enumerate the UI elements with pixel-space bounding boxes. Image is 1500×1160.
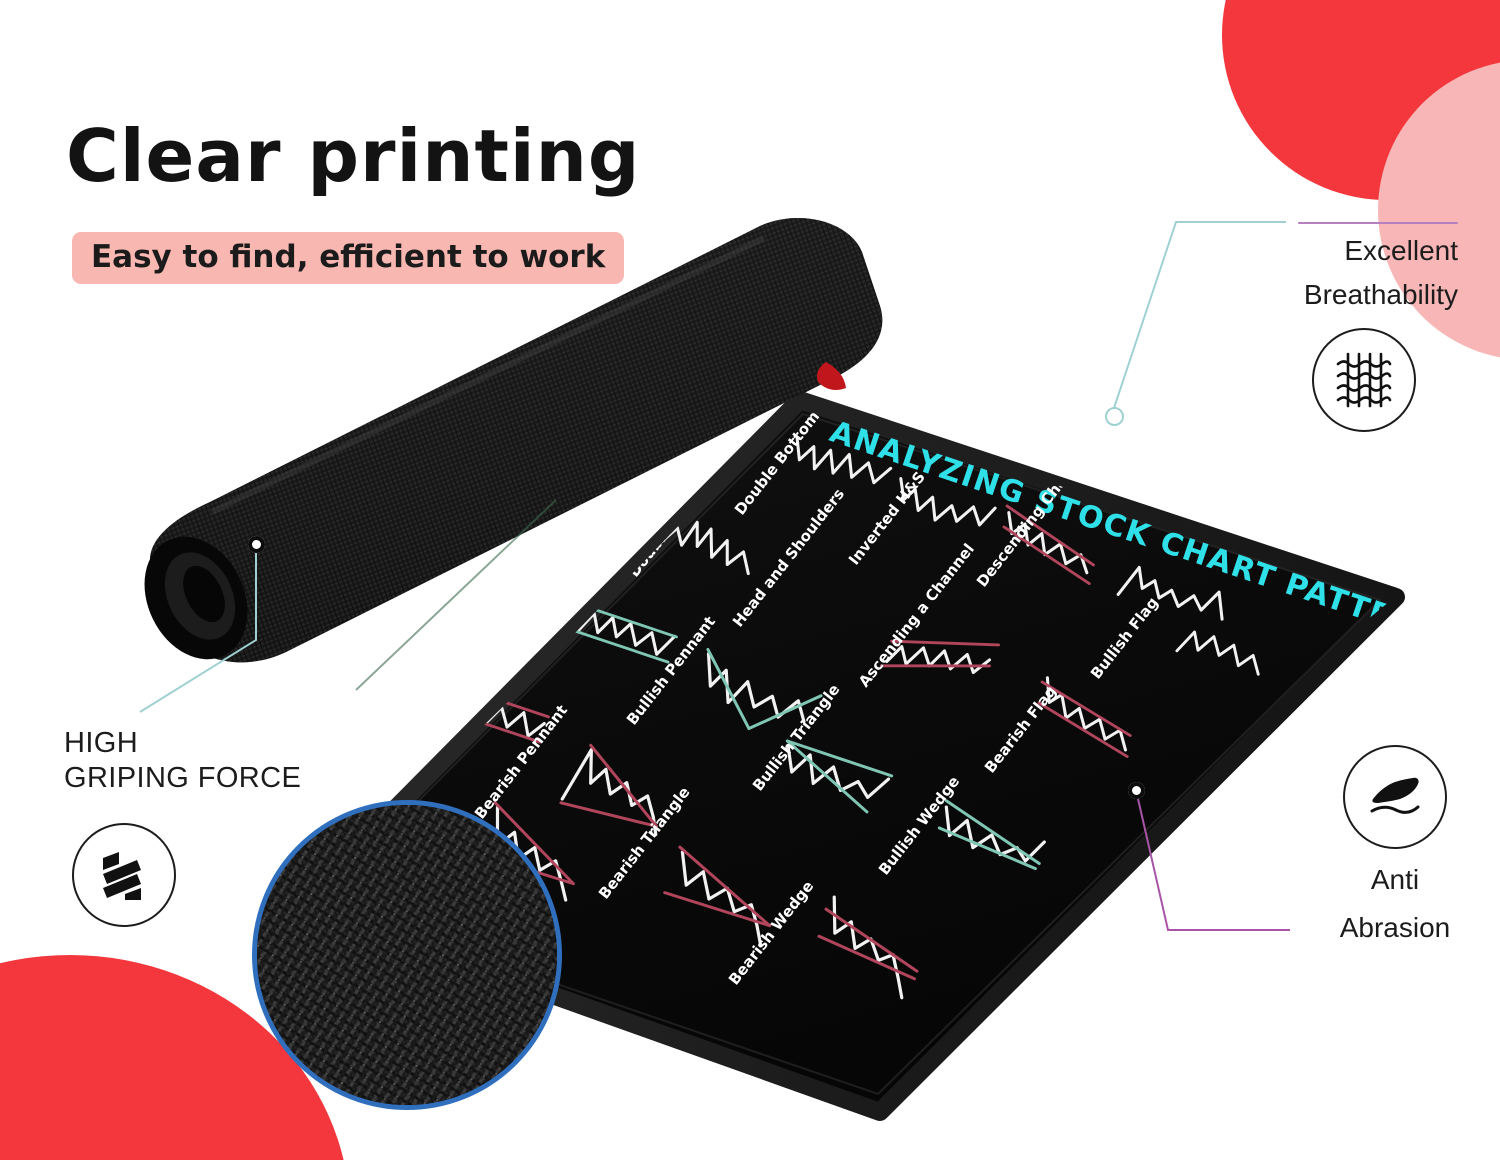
pattern-label: Bearish Flag [981,682,1060,776]
mesh-weave-glyph [1332,348,1396,412]
callout-grip-line1: HIGH [64,726,394,761]
pattern-label: Ascending a Channel [855,540,978,690]
marker-dot-grip [248,536,265,553]
mousepad-title: ANALYZING STOCK CHART PATTERNS [825,414,1466,658]
pad-seam-line [356,500,556,690]
pattern-label: Head and Shoulders [729,485,848,630]
callout-grip: HIGH GRIPING FORCE [64,726,394,927]
pattern-label: Bullish Flag [1087,594,1162,683]
marker-dot-abrasion [1128,782,1145,799]
hand-rub-surface-glyph [1361,763,1429,831]
callout-abrasion-line2: Abrasion [1290,911,1500,945]
pattern-label: Inverted H&S [845,468,929,568]
pattern-label: Bearish Wedge [725,877,817,988]
diagonal-stripes-glyph [93,844,155,906]
callout-breathability-line1: Excellent [1158,234,1458,268]
pattern-label: Bullish Triangle [749,681,843,795]
pattern-label: Bearish Triangle [595,783,694,902]
callout-rule-breathability [1298,222,1458,224]
marker-ring-breathability [1105,407,1124,426]
callout-grip-line2: GRIPING FORCE [64,761,394,796]
page-headline: Clear printing [66,114,640,198]
mousepad-rolled-section [125,218,882,677]
leader-line-abrasion [1136,790,1290,930]
diagonal-stripes-icon [72,823,176,927]
pattern-label: Bullish Wedge [875,773,963,879]
callout-abrasion: Anti Abrasion [1290,745,1500,945]
callout-breathability: Excellent Breathability [1158,222,1458,432]
pattern-label: Descending Channel [973,444,1093,591]
product-feature-banner: Clear printing Easy to find, efficient t… [0,0,1500,1160]
subheadline-text: Easy to find, efficient to work [91,239,605,275]
pattern-label: Double Top [625,495,697,580]
pattern-label: Double Bottom [731,408,823,519]
mesh-weave-icon [1312,328,1416,432]
hand-rub-surface-icon [1343,745,1447,849]
pattern-label: Bullish Rectangle [495,548,600,675]
callout-breathability-line2: Breathability [1158,278,1458,312]
callout-abrasion-line1: Anti [1290,863,1500,897]
pattern-label: Bullish Pennant [623,613,719,729]
leader-line-grip [140,544,256,712]
subheadline-pill: Easy to find, efficient to work [72,232,624,284]
